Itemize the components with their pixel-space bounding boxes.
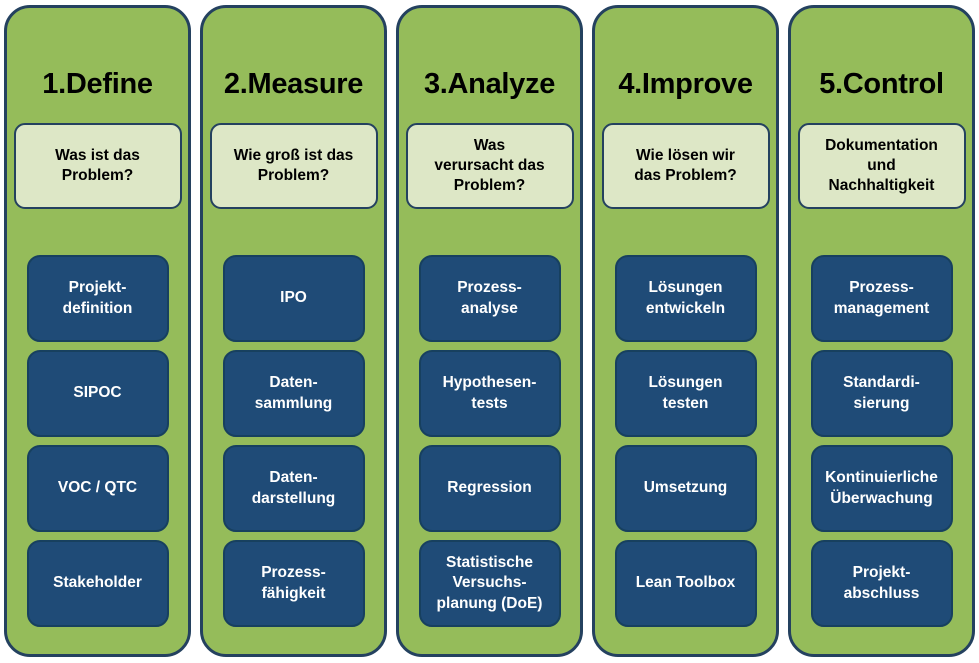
question-line: Was ist das [55,146,140,166]
tool-box[interactable]: Lösungentesten [615,350,757,437]
tool-label-line: Prozess- [834,278,930,298]
question-line: Problem? [434,176,544,196]
tool-box[interactable]: Daten-sammlung [223,350,365,437]
tool-label-line: SIPOC [73,383,121,403]
tool-list-define: Projekt-definitionSIPOCVOC / QTCStakehol… [27,255,169,627]
question-line: verursacht das [434,156,544,176]
tool-label: Prozess-fähigkeit [261,563,326,603]
phase-column-measure[interactable]: 2.MeasureWie groß ist dasProblem?IPODate… [200,5,387,657]
question-line: und [825,156,938,176]
phase-question-define: Was ist dasProblem? [14,123,182,209]
tool-label: Projekt-definition [63,278,133,318]
question-line: Dokumentation [825,136,938,156]
tool-label-line: definition [63,299,133,319]
tool-label-line: tests [443,394,537,414]
phase-title-measure: 2.Measure [213,70,374,99]
tool-label-line: planung (DoE) [437,594,543,614]
tool-box[interactable]: Lösungenentwickeln [615,255,757,342]
tool-label: Stakeholder [53,573,142,593]
question-text: Was ist dasProblem? [55,146,140,186]
tool-list-control: Prozess-managementStandardi-sierungKonti… [811,255,953,627]
tool-label-line: Statistische [437,553,543,573]
tool-box[interactable]: Projekt-definition [27,255,169,342]
tool-box[interactable]: KontinuierlicheÜberwachung [811,445,953,532]
phase-column-control[interactable]: 5.ControlDokumentationundNachhaltigkeitP… [788,5,975,657]
tool-label: VOC / QTC [58,478,137,498]
tool-box[interactable]: IPO [223,255,365,342]
tool-box[interactable]: Prozess-fähigkeit [223,540,365,627]
question-text: DokumentationundNachhaltigkeit [825,136,938,195]
tool-label: Standardi-sierung [843,373,920,413]
tool-label-line: IPO [280,288,307,308]
tool-label: Lösungentesten [648,373,722,413]
tool-box[interactable]: Projekt-abschluss [811,540,953,627]
tool-box[interactable]: Lean Toolbox [615,540,757,627]
tool-label-line: abschluss [844,584,920,604]
phase-question-measure: Wie groß ist dasProblem? [210,123,378,209]
tool-box[interactable]: Umsetzung [615,445,757,532]
tool-label: Umsetzung [644,478,728,498]
tool-list-measure: IPODaten-sammlungDaten-darstellungProzes… [223,255,365,627]
question-line: Wie groß ist das [234,146,354,166]
tool-label-line: Lean Toolbox [636,573,736,593]
dmaic-diagram: 1.DefineWas ist dasProblem?Projekt-defin… [0,0,979,663]
phase-question-analyze: Wasverursacht dasProblem? [406,123,574,209]
phase-title-analyze: 3.Analyze [409,70,570,99]
tool-label-line: testen [648,394,722,414]
phase-title-improve: 4.Improve [605,70,766,99]
tool-label-line: sierung [843,394,920,414]
tool-label: StatistischeVersuchs-planung (DoE) [437,553,543,613]
tool-label-line: Stakeholder [53,573,142,593]
tool-label: Daten-darstellung [252,468,336,508]
tool-box[interactable]: Prozess-analyse [419,255,561,342]
tool-box[interactable]: Prozess-management [811,255,953,342]
tool-label: Prozess-analyse [457,278,522,318]
tool-label-line: Standardi- [843,373,920,393]
tool-label: Regression [447,478,531,498]
tool-label-line: Daten- [255,373,333,393]
tool-label: KontinuierlicheÜberwachung [825,468,938,508]
tool-box[interactable]: Stakeholder [27,540,169,627]
tool-label-line: Regression [447,478,531,498]
tool-label-line: darstellung [252,489,336,509]
question-line: das Problem? [634,166,737,186]
phase-question-control: DokumentationundNachhaltigkeit [798,123,966,209]
tool-box[interactable]: Regression [419,445,561,532]
tool-box[interactable]: SIPOC [27,350,169,437]
tool-label-line: Prozess- [261,563,326,583]
tool-label-line: Lösungen [648,373,722,393]
question-line: Nachhaltigkeit [825,176,938,196]
question-text: Wie groß ist dasProblem? [234,146,354,186]
phase-column-analyze[interactable]: 3.AnalyzeWasverursacht dasProblem?Prozes… [396,5,583,657]
tool-label-line: Daten- [252,468,336,488]
phase-title-define: 1.Define [17,70,178,99]
tool-label-line: fähigkeit [261,584,326,604]
question-line: Wie lösen wir [634,146,737,166]
tool-label-line: analyse [457,299,522,319]
tool-box[interactable]: Standardi-sierung [811,350,953,437]
tool-label-line: Hypothesen- [443,373,537,393]
tool-list-analyze: Prozess-analyseHypothesen-testsRegressio… [419,255,561,627]
tool-label-line: Versuchs- [437,573,543,593]
phase-title-control: 5.Control [801,70,962,99]
tool-label-line: Umsetzung [644,478,728,498]
phase-column-improve[interactable]: 4.ImproveWie lösen wirdas Problem?Lösung… [592,5,779,657]
tool-box[interactable]: Daten-darstellung [223,445,365,532]
tool-box[interactable]: Hypothesen-tests [419,350,561,437]
tool-label-line: Projekt- [844,563,920,583]
tool-label-line: Lösungen [646,278,725,298]
tool-label: SIPOC [73,383,121,403]
phase-column-define[interactable]: 1.DefineWas ist dasProblem?Projekt-defin… [4,5,191,657]
tool-label: Hypothesen-tests [443,373,537,413]
tool-label-line: VOC / QTC [58,478,137,498]
tool-label-line: entwickeln [646,299,725,319]
question-line: Problem? [234,166,354,186]
tool-label: Prozess-management [834,278,930,318]
tool-box[interactable]: VOC / QTC [27,445,169,532]
tool-label: Daten-sammlung [255,373,333,413]
tool-list-improve: LösungenentwickelnLösungentestenUmsetzun… [615,255,757,627]
tool-label-line: Prozess- [457,278,522,298]
tool-box[interactable]: StatistischeVersuchs-planung (DoE) [419,540,561,627]
question-line: Problem? [55,166,140,186]
tool-label-line: Überwachung [825,489,938,509]
phase-question-improve: Wie lösen wirdas Problem? [602,123,770,209]
tool-label-line: Projekt- [63,278,133,298]
question-text: Wasverursacht dasProblem? [434,136,544,195]
question-text: Wie lösen wirdas Problem? [634,146,737,186]
tool-label: Lean Toolbox [636,573,736,593]
tool-label-line: management [834,299,930,319]
tool-label-line: Kontinuierliche [825,468,938,488]
tool-label-line: sammlung [255,394,333,414]
tool-label: Projekt-abschluss [844,563,920,603]
question-line: Was [434,136,544,156]
tool-label: IPO [280,288,307,308]
tool-label: Lösungenentwickeln [646,278,725,318]
